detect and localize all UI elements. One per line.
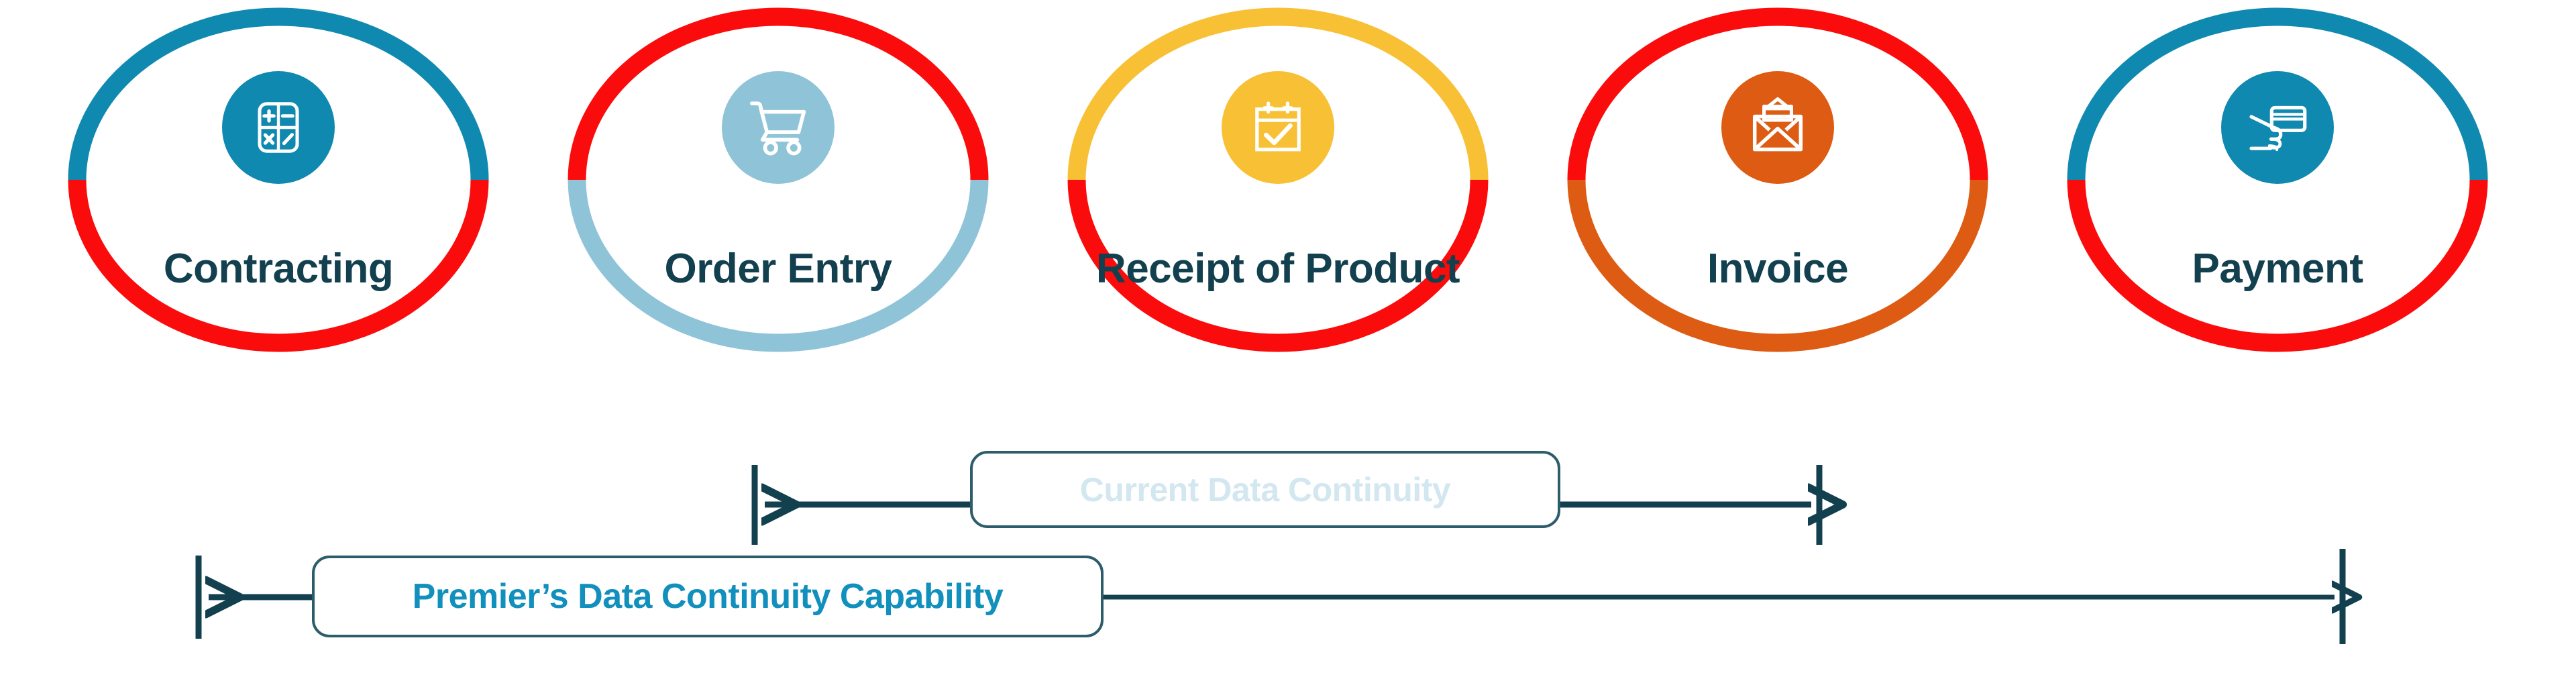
badge-payment	[2221, 71, 2334, 184]
envelope-icon	[1745, 95, 1811, 160]
span-label-current-data-continuity: Current Data Continuity	[970, 451, 1560, 528]
badge-contracting	[222, 71, 335, 184]
shopping-cart-icon	[745, 94, 812, 161]
calendar-check-icon	[1246, 95, 1310, 160]
hand-credit-card-icon	[2243, 93, 2312, 162]
span-label-premier-data-continuity-capability: Premier’s Data Continuity Capability	[312, 556, 1104, 637]
stage-label-receipt-of-product: Receipt of Product	[1096, 245, 1460, 293]
badge-order-entry	[722, 71, 835, 184]
stage-label-order-entry: Order Entry	[664, 245, 892, 293]
stage-label-invoice: Invoice	[1707, 245, 1848, 293]
badge-receipt-of-product	[1222, 71, 1334, 184]
process-flow-diagram: Contracting Order Entry Receipt of Produ…	[0, 0, 2576, 681]
stage-label-contracting: Contracting	[164, 245, 393, 293]
badge-invoice	[1721, 71, 1834, 184]
calculator-icon	[246, 95, 311, 160]
stage-label-payment: Payment	[2192, 245, 2363, 293]
